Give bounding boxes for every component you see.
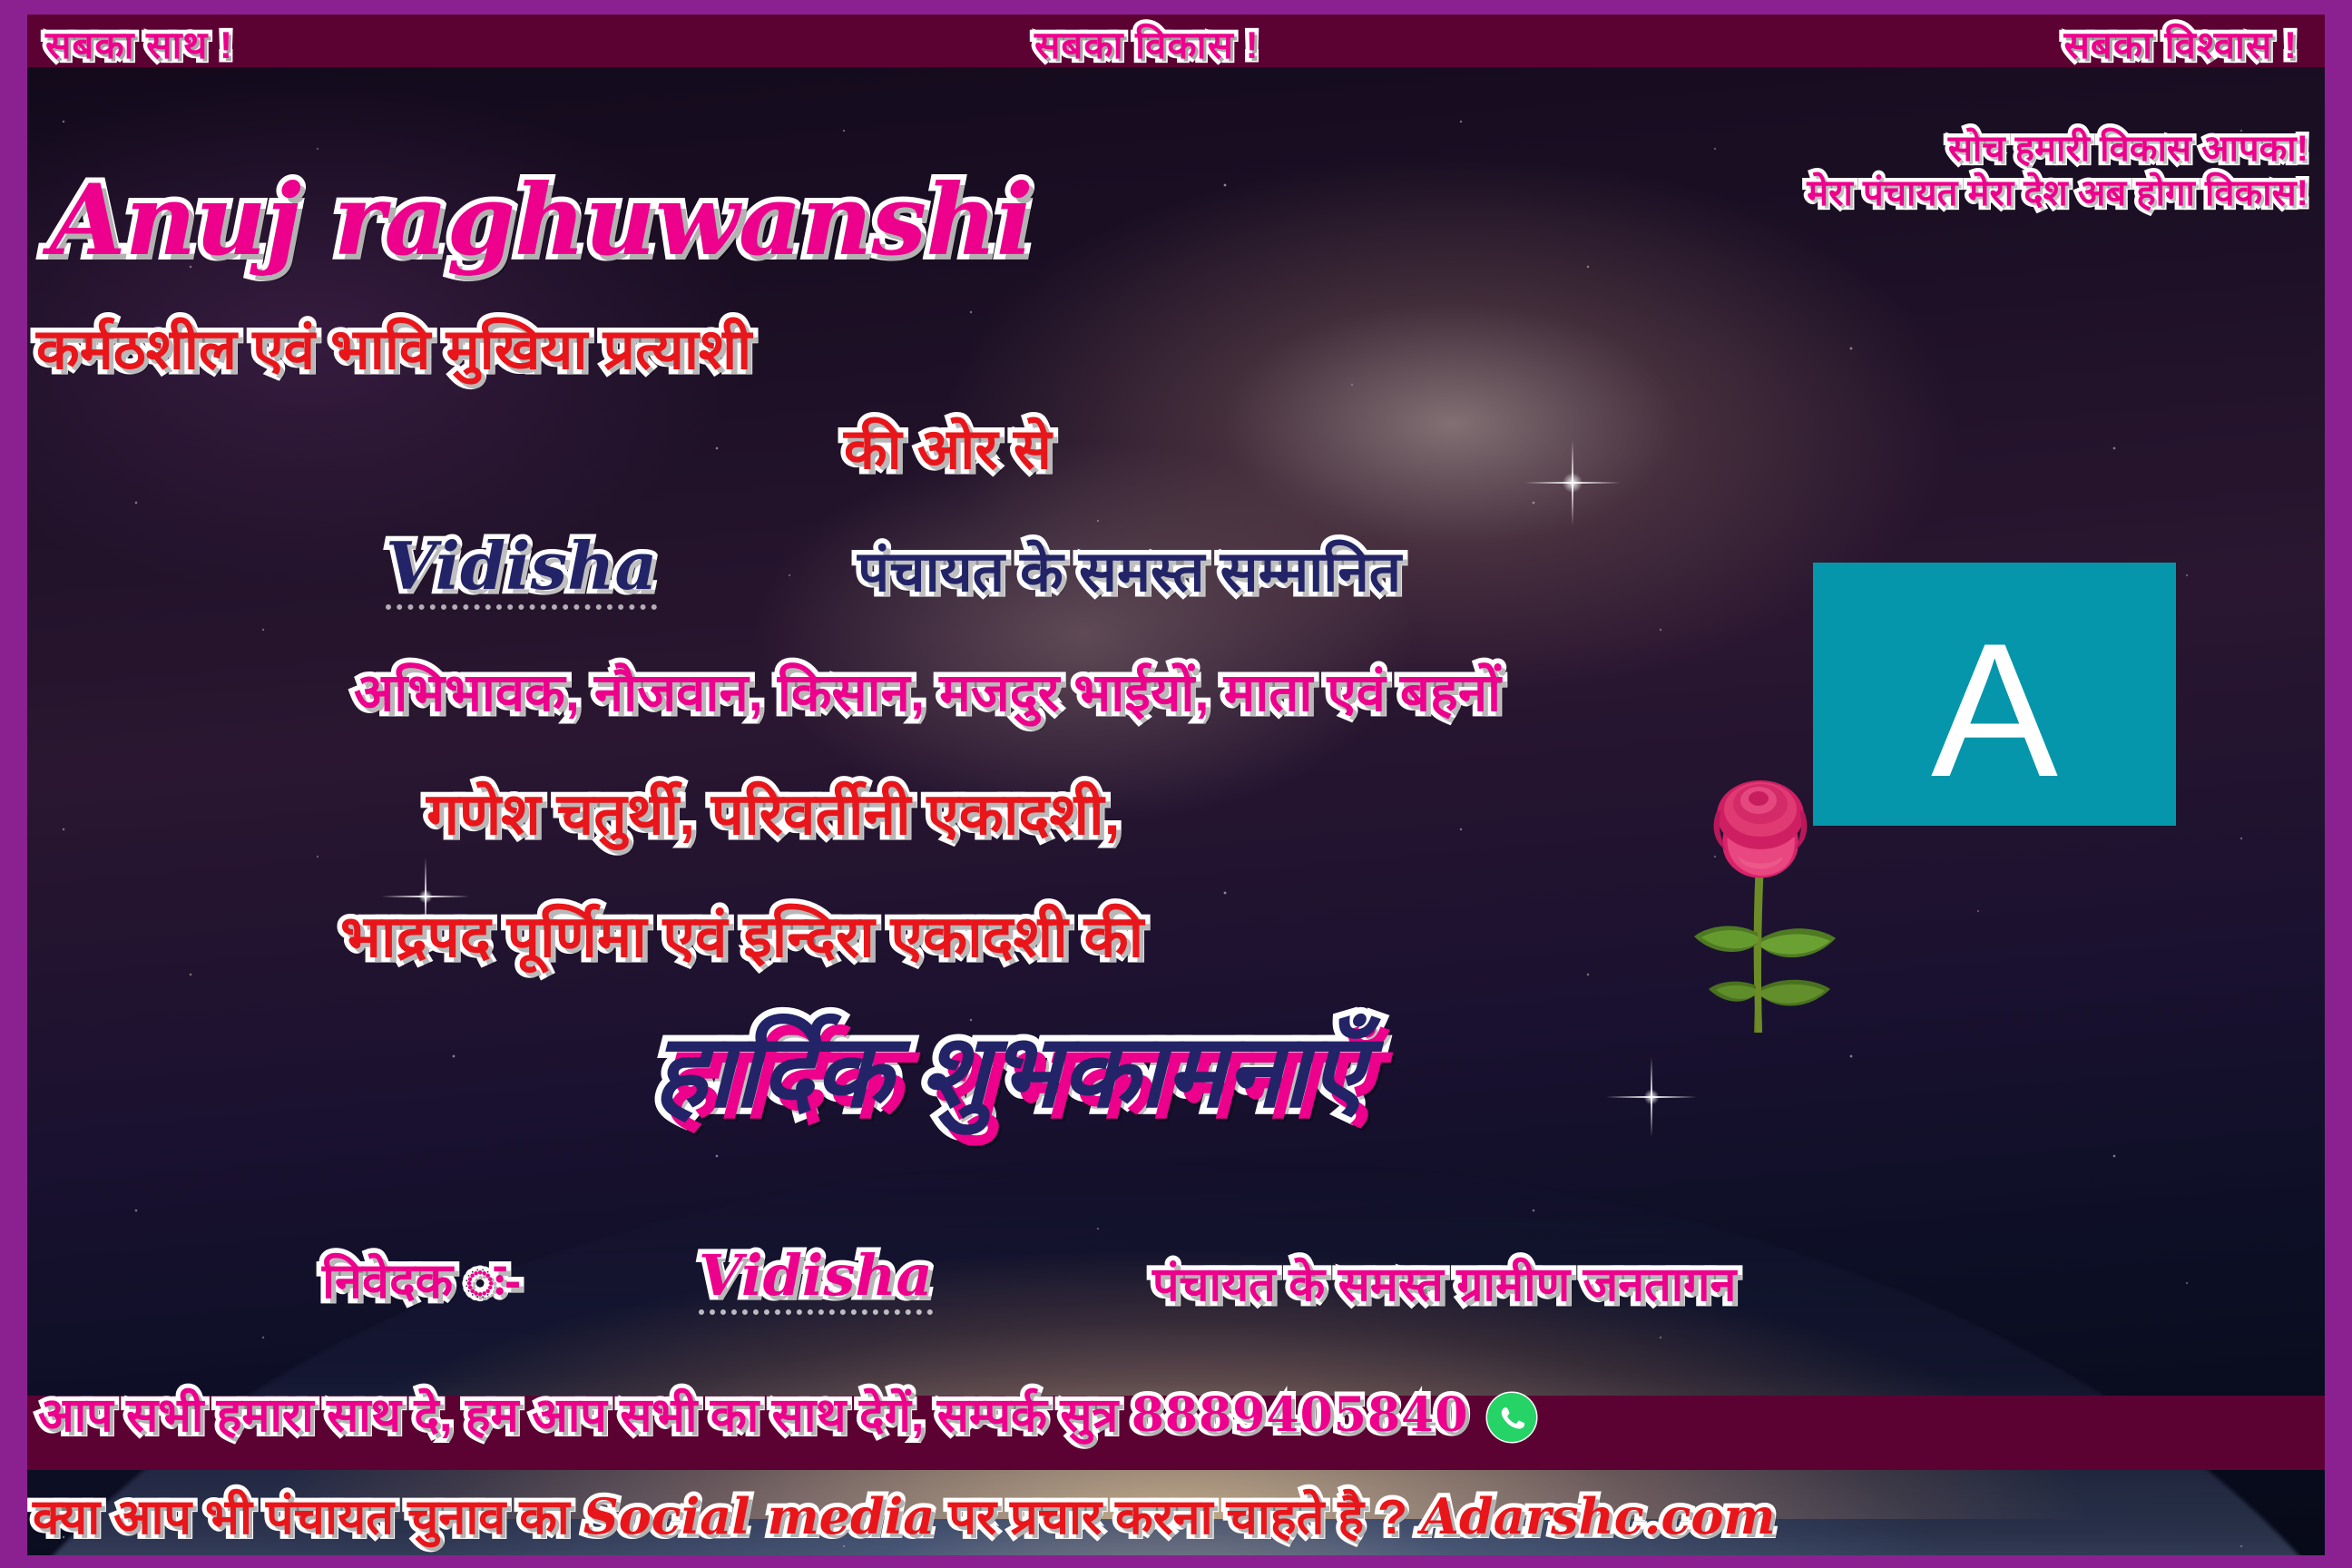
slogan-sabka-vikas: सबका विकास !: [1034, 18, 1259, 70]
tagline-block: सोच हमारी विकास आपका! मेरा पंचायत मेरा द…: [1807, 127, 2308, 216]
footer-promo-line: क्या आप भी पंचायत चुनाव का Social media …: [33, 1481, 1776, 1548]
tagline-line-2: मेरा पंचायत मेरा देश अब होगा विकास!: [1807, 171, 2308, 216]
greeting-wish: हार्दिक शुभकामनाएँ: [653, 1021, 1365, 1122]
footer-contact-line: आप सभी हमारा साथ दे, हम आप सभी का साथ दे…: [38, 1381, 1538, 1455]
promo-social-media: Social media: [583, 1487, 935, 1545]
festival-line-1: गणेश चतुर्थी, परिवर्तीनी एकादशी,: [426, 785, 1120, 843]
audience-line: अभिभावक, नौजवान, किसान, मजदुर भाईयों, मा…: [354, 667, 1501, 720]
panchayat-place-name: Vidisha: [386, 534, 657, 610]
whatsapp-icon: [1485, 1391, 1538, 1455]
frame-left: [0, 0, 27, 1568]
poster-content: Anuj raghuwanshi सोच हमारी विकास आपका! म…: [0, 0, 2352, 1568]
requester-place: Vidisha: [699, 1248, 933, 1315]
election-greeting-poster: सबका साथ ! सबका विकास ! सबका विश्वास ! A…: [0, 0, 2352, 1568]
panchayat-honored-line: पंचायत के समस्त सम्मानित: [857, 544, 1401, 601]
promo-text-post: पर प्रचार करना चाहते है ?: [935, 1490, 1421, 1544]
from-label: की ओर से: [844, 422, 1052, 478]
slogan-sabka-saath: सबका साथ !: [45, 18, 233, 70]
frame-top: [0, 0, 2352, 15]
tagline-line-1: सोच हमारी विकास आपका!: [1807, 127, 2308, 171]
requester-suffix: पंचायत के समस्त ग्रामीण जनतागन: [1152, 1261, 1736, 1308]
avatar: A: [1813, 563, 2176, 826]
frame-right: [2325, 0, 2352, 1568]
festival-line-2: भाद्रपद पूर्णिमा एवं इन्दिरा एकादशी की: [340, 907, 1143, 965]
candidate-designation: कर्मठशील एवं भावि मुखिया प्रत्याशी: [36, 322, 751, 378]
slogan-sabka-vishwas: सबका विश्वास !: [2063, 18, 2298, 70]
promo-text-pre: क्या आप भी पंचायत चुनाव का: [33, 1490, 583, 1544]
requester-label: निवेदक ः-: [322, 1257, 521, 1306]
promo-website: Adarshc.com: [1421, 1487, 1775, 1545]
rose-icon: [1674, 760, 1847, 1033]
candidate-name: Anuj raghuwanshi: [50, 163, 1033, 278]
footer-support-text: आप सभी हमारा साथ दे, हम आप सभी का साथ दे…: [38, 1389, 1118, 1442]
contact-phone: 8889405840: [1132, 1387, 1469, 1443]
frame-bottom: [0, 1555, 2352, 1568]
avatar-letter: A: [1931, 615, 2058, 806]
